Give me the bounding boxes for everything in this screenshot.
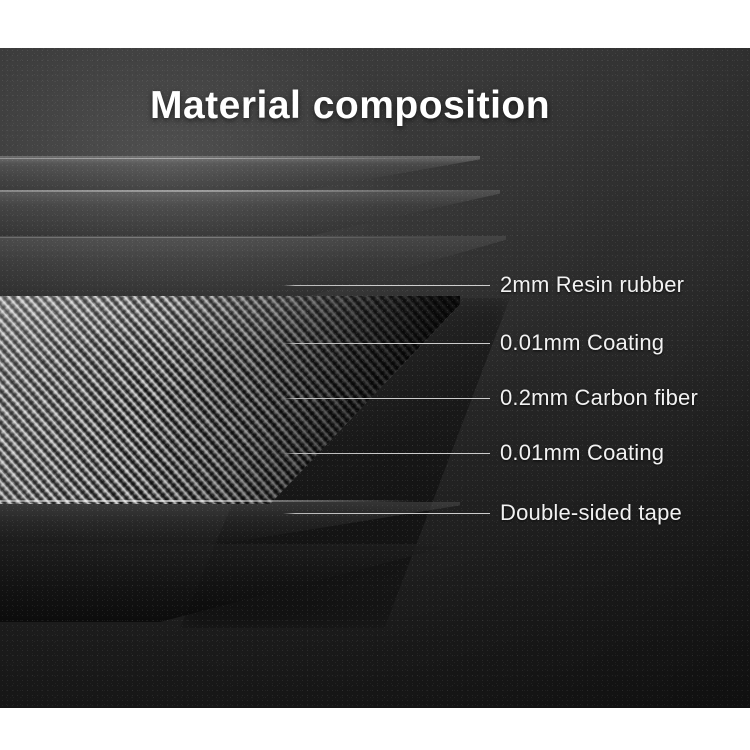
- bottom-white-band: [0, 708, 750, 750]
- leader-line-resin-rubber: [283, 285, 490, 286]
- label-resin-rubber: 2mm Resin rubber: [500, 273, 684, 297]
- label-coating-bottom: 0.01mm Coating: [500, 441, 664, 465]
- layer-slab-resin-upper: [0, 156, 480, 190]
- leader-line-coating-bottom: [283, 453, 490, 454]
- slab-edge-highlight-b: [0, 190, 470, 192]
- photo-area: Material composition 2mm Resin rubber 0.…: [0, 48, 750, 708]
- leader-line-carbon-fiber: [283, 398, 490, 399]
- layer-slab-resin-body: [0, 190, 500, 236]
- product-infographic: Material composition 2mm Resin rubber 0.…: [0, 0, 750, 750]
- leader-line-double-sided-tape: [283, 513, 490, 514]
- label-coating-top: 0.01mm Coating: [500, 331, 664, 355]
- slab-edge-highlight-a: [0, 158, 430, 159]
- label-double-sided-tape: Double-sided tape: [500, 501, 682, 525]
- leader-line-coating-top: [283, 343, 490, 344]
- carbon-sheet-bottom-edge: [0, 500, 418, 502]
- layer-slab-coating-upper: [0, 236, 506, 298]
- page-title: Material composition: [150, 84, 550, 128]
- slab-edge-highlight-c: [0, 237, 455, 238]
- label-carbon-fiber: 0.2mm Carbon fiber: [500, 386, 698, 410]
- top-white-band: [0, 0, 750, 48]
